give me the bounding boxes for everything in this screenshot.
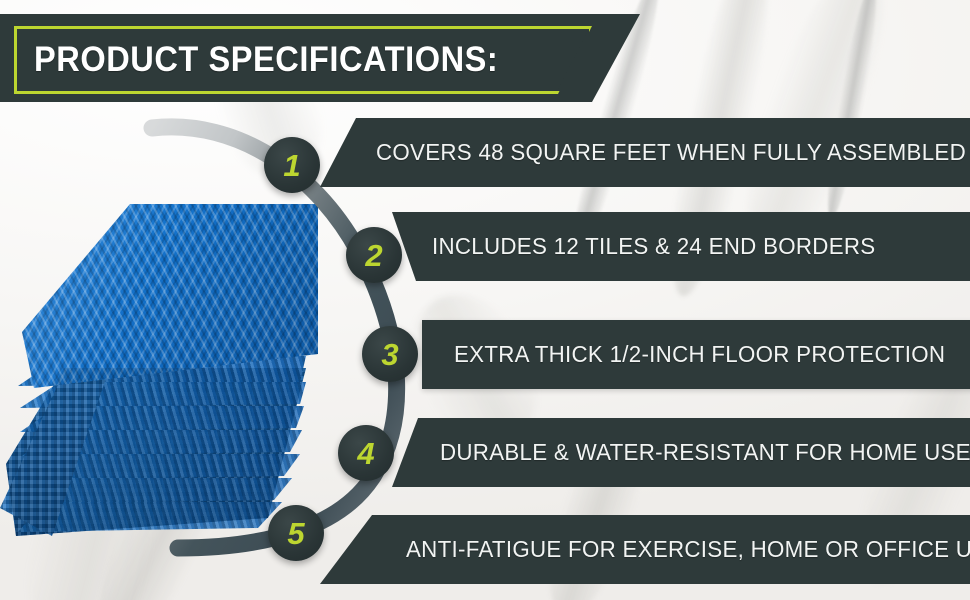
tile-side-shading: [6, 368, 306, 536]
spec-bar-1: COVERS 48 SQUARE FEET WHEN FULLY ASSEMBL…: [320, 118, 970, 187]
product-image-foam-tile-stack: [0, 196, 318, 536]
step-number-2: 2: [346, 227, 402, 283]
step-number-5: 5: [268, 505, 324, 561]
spec-bar-4: DURABLE & WATER-RESISTANT FOR HOME USE: [392, 418, 970, 487]
spec-text-4: DURABLE & WATER-RESISTANT FOR HOME USE: [440, 439, 970, 466]
infographic-canvas: PRODUCT SPECIFICATIONS:: [0, 0, 970, 600]
step-number-3: 3: [362, 326, 418, 382]
spec-text-2: INCLUDES 12 TILES & 24 END BORDERS: [432, 233, 875, 260]
page-title: PRODUCT SPECIFICATIONS:: [34, 35, 555, 85]
spec-bar-3: EXTRA THICK 1/2-INCH FLOOR PROTECTION: [422, 320, 970, 389]
spec-bar-2: INCLUDES 12 TILES & 24 END BORDERS: [392, 212, 970, 281]
spec-text-5: ANTI-FATIGUE FOR EXERCISE, HOME OR OFFIC…: [406, 536, 970, 563]
spec-bar-5: ANTI-FATIGUE FOR EXERCISE, HOME OR OFFIC…: [320, 515, 970, 584]
spec-text-3: EXTRA THICK 1/2-INCH FLOOR PROTECTION: [454, 341, 945, 368]
spec-text-1: COVERS 48 SQUARE FEET WHEN FULLY ASSEMBL…: [376, 139, 966, 166]
step-number-1: 1: [264, 137, 320, 193]
step-number-4: 4: [338, 425, 394, 481]
